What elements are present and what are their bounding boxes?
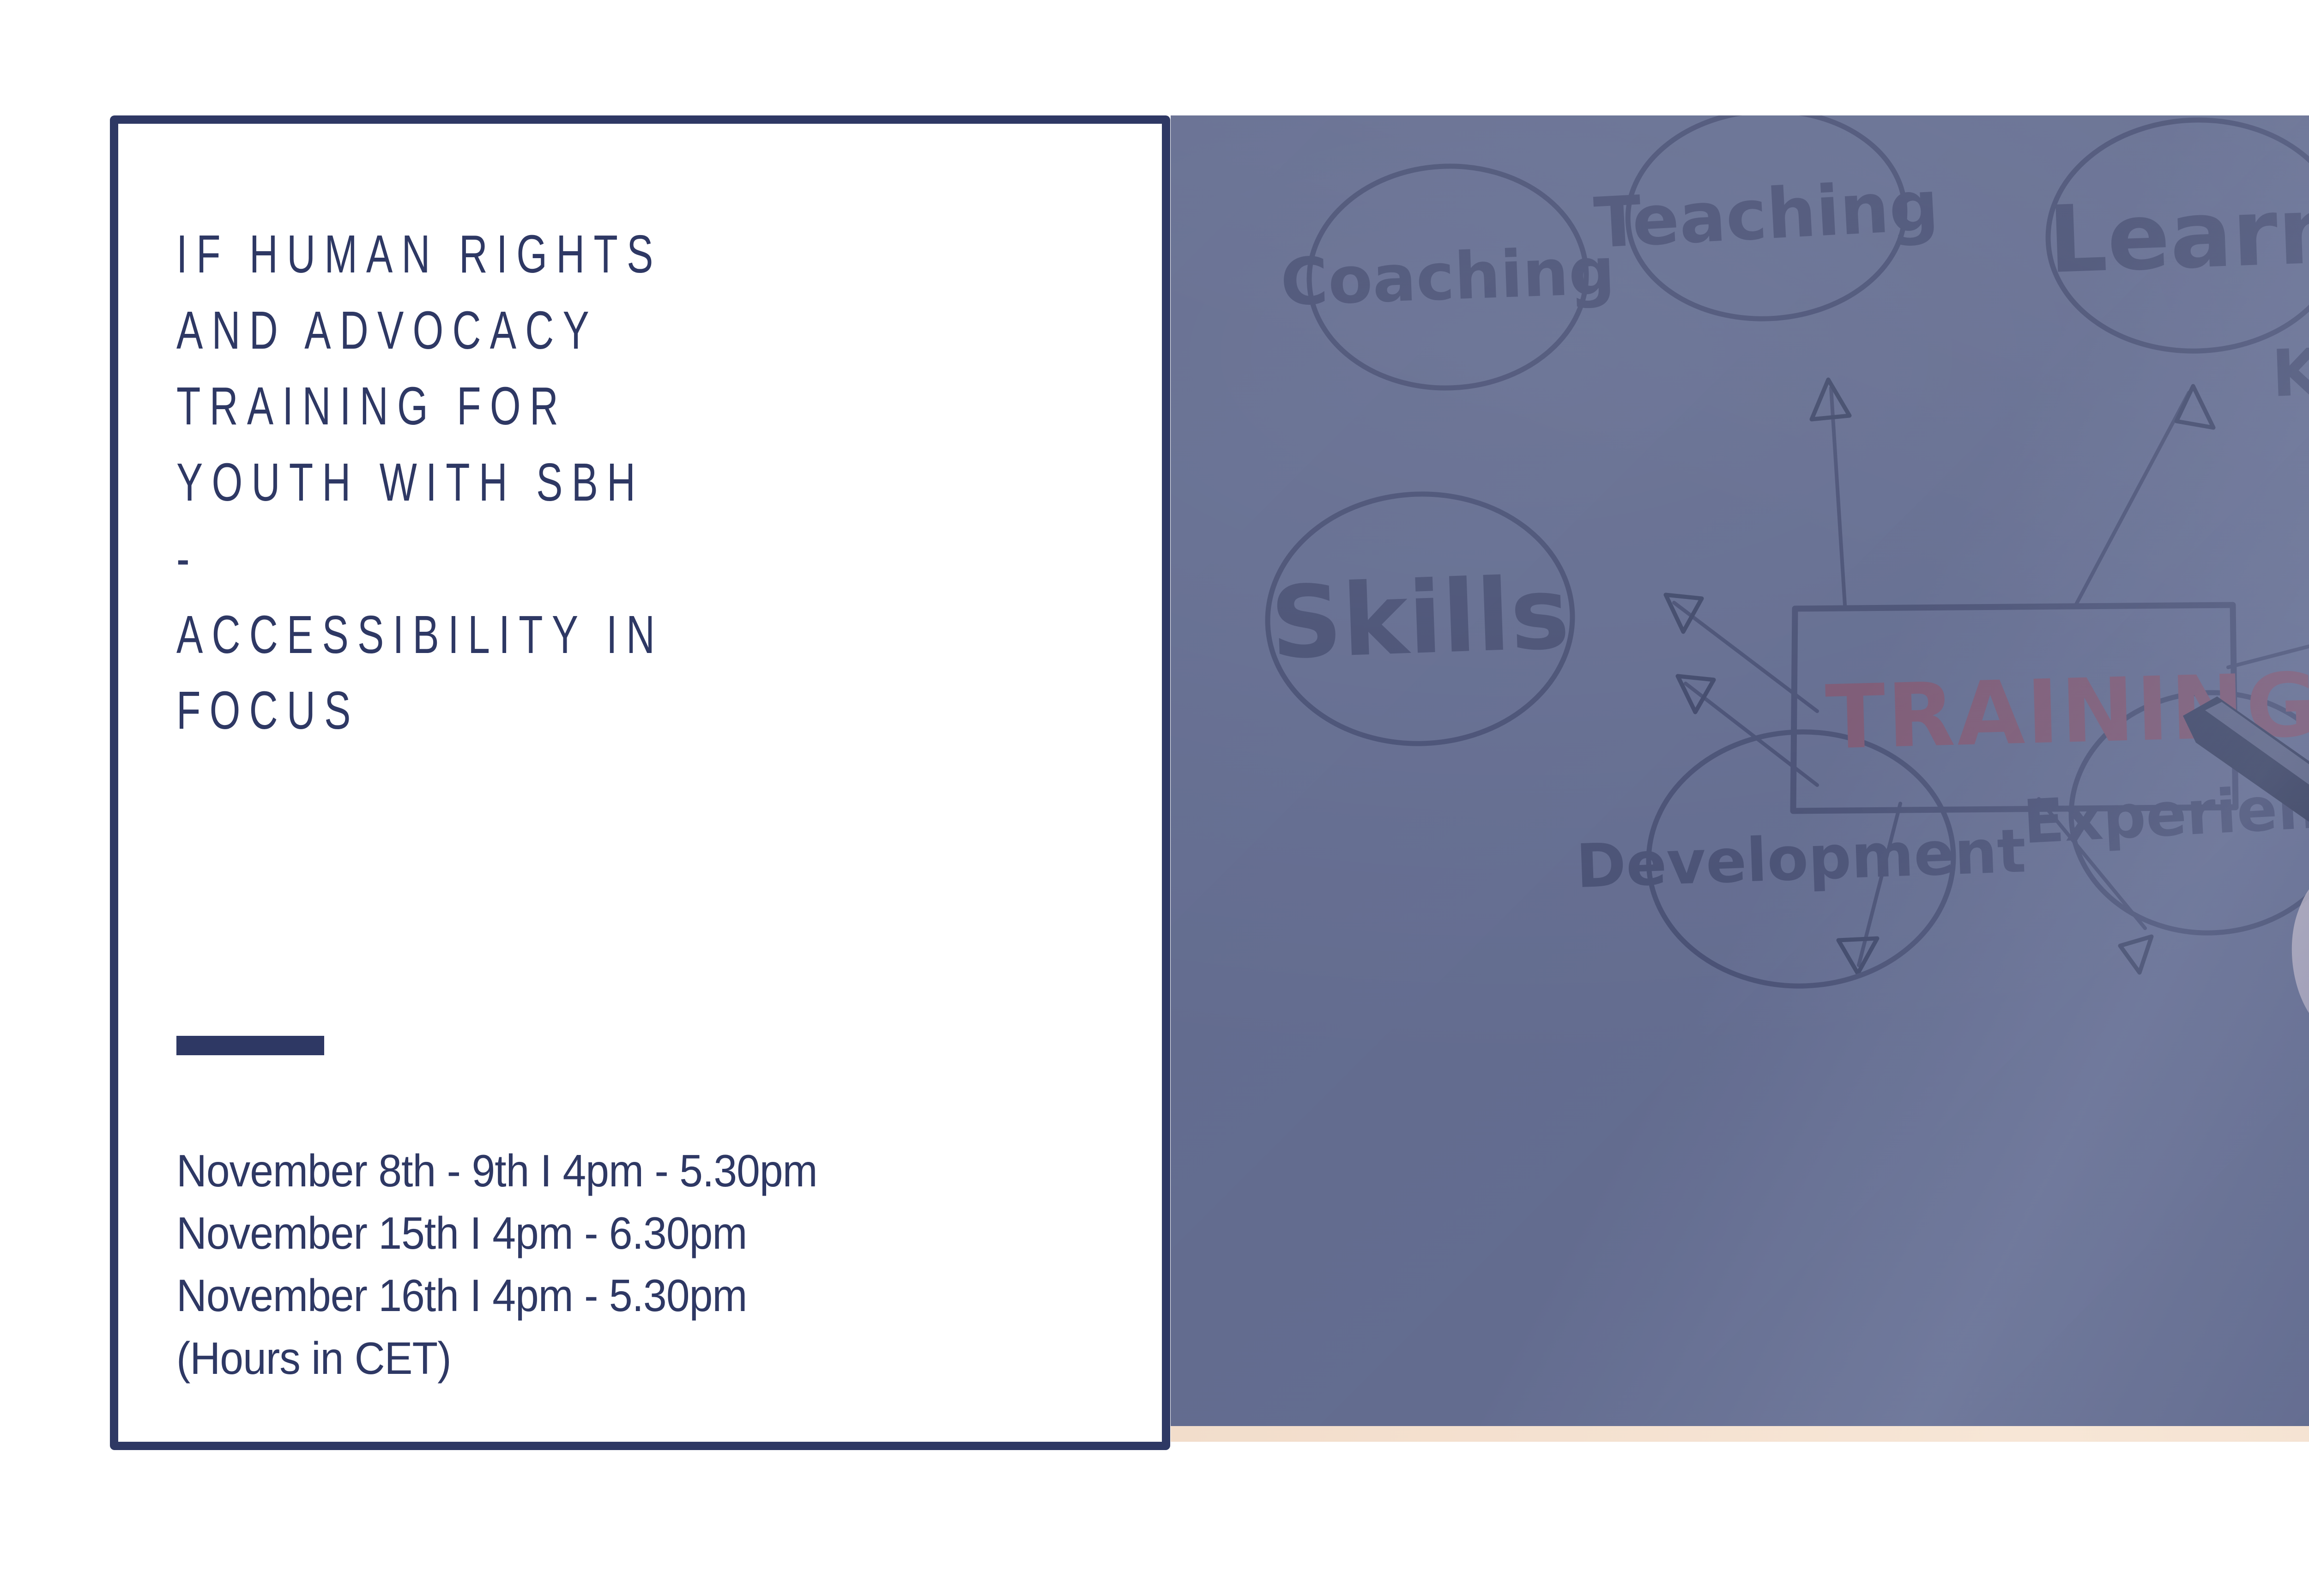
mindmap-node-label: Teaching bbox=[1592, 166, 1941, 264]
mindmap-node-label: Knowledge bbox=[2270, 322, 2309, 411]
mindmap-sketch: .ink{fill:none;stroke:#5b6385;stroke-wid… bbox=[1171, 115, 2309, 1442]
mindmap-node-label: Learn bbox=[2047, 176, 2309, 294]
finger-knuckles bbox=[2292, 874, 2309, 1045]
schedule-text: November 8th - 9th I 4pm - 5.30pm Novemb… bbox=[176, 1140, 817, 1390]
accent-divider bbox=[176, 1036, 324, 1055]
hand-holding-pen-photo bbox=[2177, 683, 2309, 1442]
mindmap-node: Coaching bbox=[1277, 161, 1619, 394]
mindmap-photo-panel: .ink{fill:none;stroke:#5b6385;stroke-wid… bbox=[1171, 115, 2309, 1442]
mindmap-node-label: Development bbox=[1575, 816, 2027, 901]
mindmap-node-label: Skills bbox=[1269, 555, 1571, 681]
pen bbox=[2183, 696, 2309, 1260]
mindmap-node-label: Coaching bbox=[1279, 234, 1616, 320]
event-info-card: IF HUMAN RIGHTS AND ADVOCACY TRAINING FO… bbox=[110, 115, 1170, 1450]
mindmap-node: Learn bbox=[2044, 115, 2309, 356]
photo-bottom-strip bbox=[1171, 1426, 2309, 1442]
mindmap-node-group: TeachingCoachingLearnKnowledgeSkillsDeve… bbox=[1263, 115, 2309, 994]
mindmap-node: Skills bbox=[1263, 489, 1577, 749]
page-title: IF HUMAN RIGHTS AND ADVOCACY TRAINING FO… bbox=[176, 216, 1065, 749]
mindmap-node: Teaching bbox=[1589, 115, 1944, 327]
card-content: IF HUMAN RIGHTS AND ADVOCACY TRAINING FO… bbox=[176, 216, 1134, 749]
